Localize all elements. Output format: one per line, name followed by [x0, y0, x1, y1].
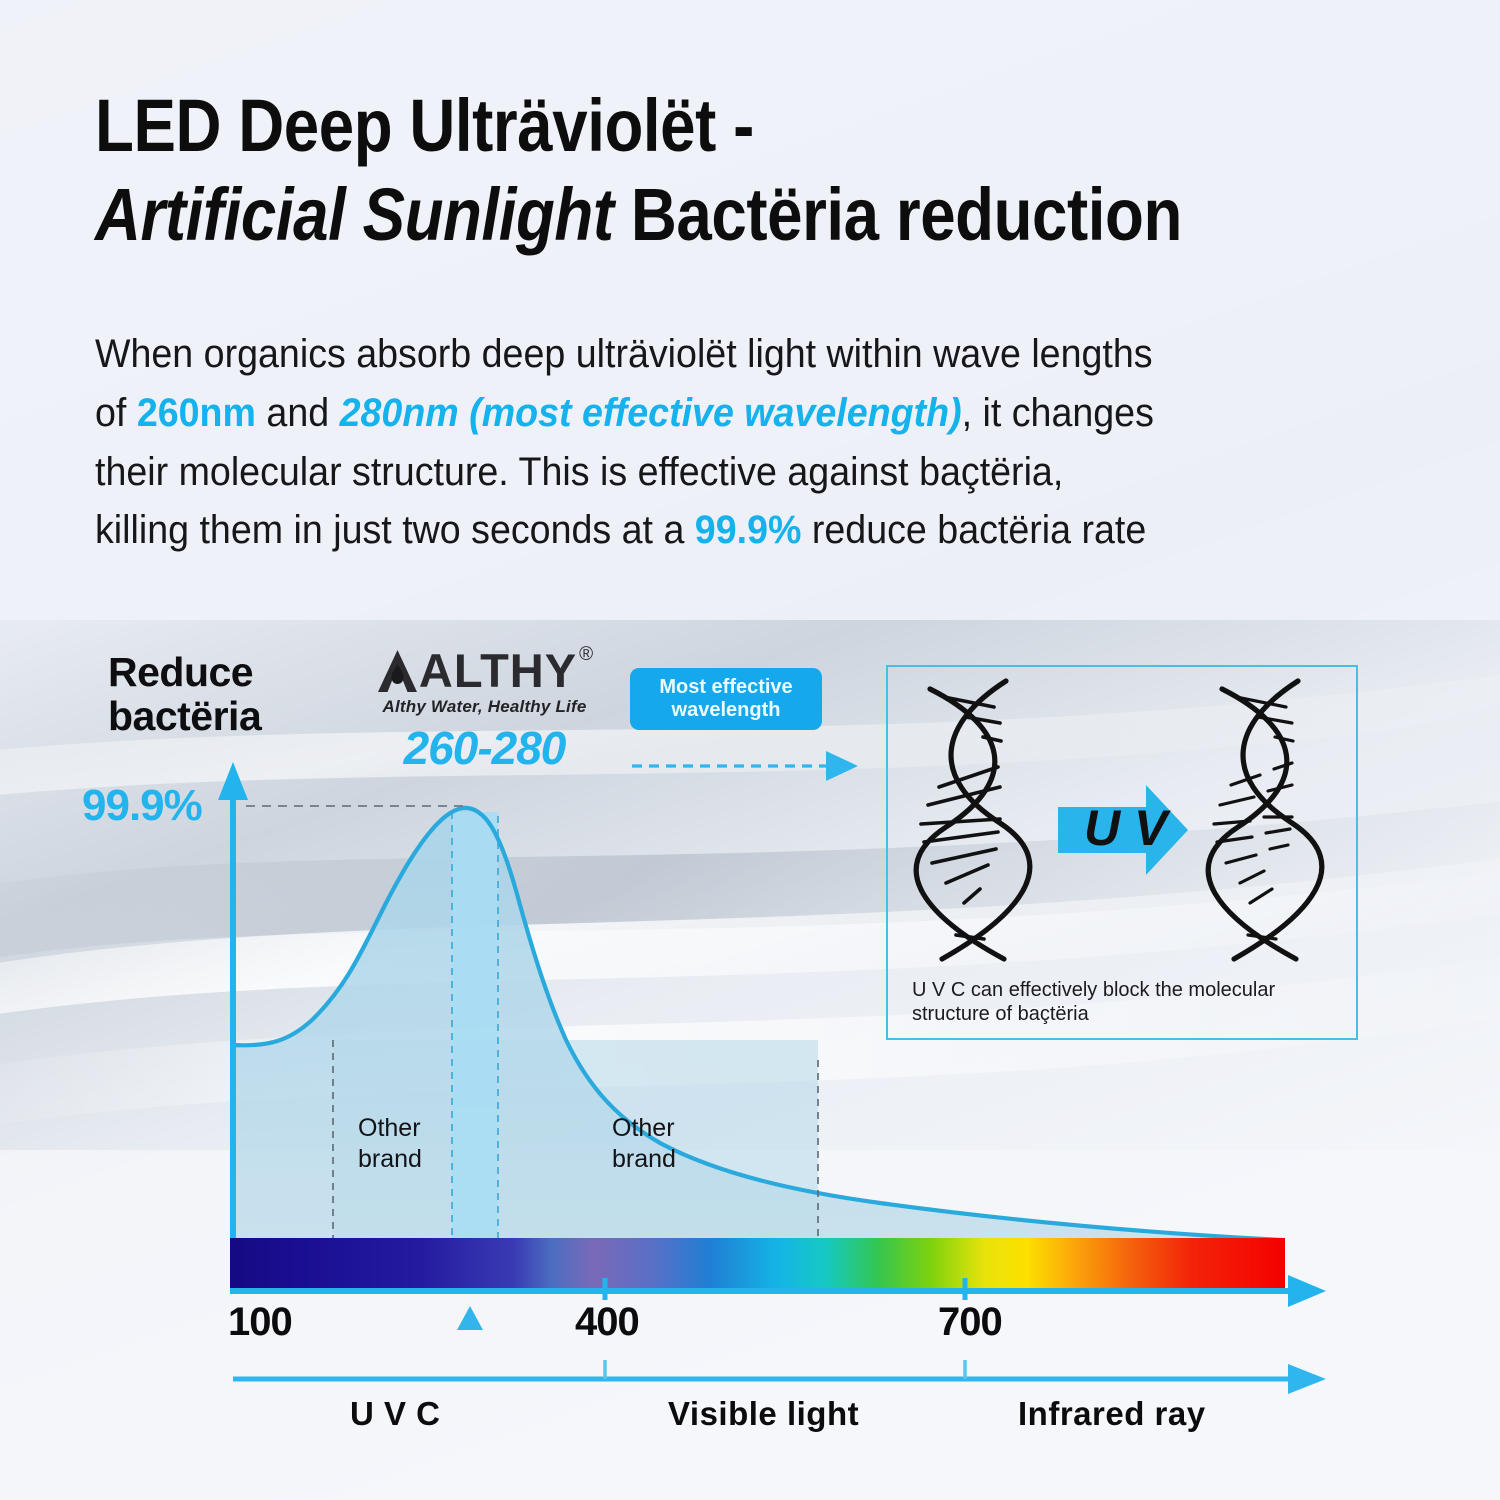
band-label-infrared: Infrared ray: [1018, 1395, 1206, 1433]
brand-logo: ALTHY ® Althy Water, Healthy Life 260-28…: [372, 648, 597, 775]
dna-helix-intact: [916, 681, 1030, 959]
other-brand-1-line2: brand: [358, 1144, 422, 1175]
other-brand-2-line1: Other: [612, 1113, 676, 1144]
dna-caption-line2: structure of baçtëria: [912, 1002, 1342, 1026]
x-tick-label-400: 400: [575, 1300, 639, 1345]
x-tick-label-700: 700: [938, 1300, 1002, 1345]
y-axis-title: Reduce bactëria: [108, 650, 358, 739]
water-drop-a-icon: [376, 648, 419, 693]
band-label-uvc: U V C: [350, 1395, 441, 1433]
wavelength-range-label: 260-280: [372, 721, 597, 775]
y-axis-title-line1: Reduce: [108, 650, 358, 694]
peak-marker-triangle: [457, 1306, 483, 1330]
spectrum-bar: [230, 1238, 1285, 1290]
uv-arrow: U V: [1058, 785, 1188, 875]
peak-value-label: 99.9%: [82, 781, 202, 831]
brand-tagline: Althy Water, Healthy Life: [372, 697, 597, 717]
band-label-visible: Visible light: [668, 1395, 859, 1433]
dna-caption-line1: U V C can effectively block the molecula…: [912, 978, 1342, 1002]
dna-helix-damaged: [1208, 681, 1322, 959]
dna-panel-caption: U V C can effectively block the molecula…: [912, 978, 1342, 1027]
x-tick-label-100: 100: [228, 1300, 292, 1345]
registered-mark: ®: [579, 644, 593, 666]
other-brand-2-line2: brand: [612, 1144, 676, 1175]
badge-line2: wavelength: [659, 699, 792, 722]
y-axis-title-line2: bactëria: [108, 694, 358, 738]
badge-to-panel-arrow: [632, 751, 858, 781]
other-brand-label-2: Other brand: [612, 1113, 676, 1174]
brand-name: ALTHY: [419, 648, 577, 693]
most-effective-band: [452, 812, 498, 1240]
most-effective-wavelength-badge: Most effective wavelength: [630, 668, 822, 730]
uv-arrow-label: U V: [1084, 800, 1171, 856]
band-axis: [233, 1360, 1326, 1394]
other-brand-1-line1: Other: [358, 1113, 422, 1144]
badge-line1: Most effective: [659, 676, 792, 699]
other-brand-label-1: Other brand: [358, 1113, 422, 1174]
